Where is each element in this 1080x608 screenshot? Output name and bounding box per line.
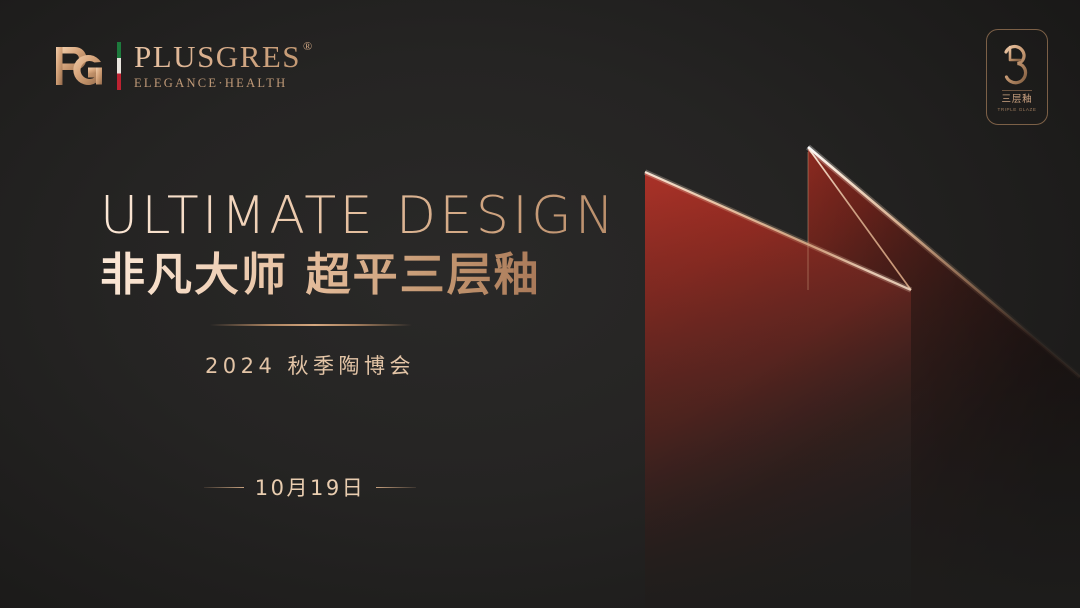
panel-left <box>645 172 911 608</box>
date-rule-right <box>376 487 416 488</box>
badge-label-en: TRIPLE GLAZE <box>997 108 1036 113</box>
brand-wordmark: PLUSGRES ® ELEGANCE·HEALTH <box>134 41 312 91</box>
pg-monogram-icon <box>52 40 108 92</box>
section-divider <box>210 324 412 326</box>
registered-trademark-icon: ® <box>303 39 312 54</box>
brand-tagline: ELEGANCE·HEALTH <box>134 76 312 91</box>
event-date-row: 10月19日 <box>0 472 620 502</box>
date-rule-left <box>204 487 244 488</box>
headline-english: ULTIMATE DESIGN <box>100 190 617 242</box>
badge-divider <box>1002 90 1032 91</box>
brand-name-row: PLUSGRES ® <box>134 41 312 72</box>
promo-banner: PLUSGRES ® ELEGANCE·HEALTH 三层釉 TRIPLE GL… <box>0 0 1080 608</box>
event-name: 2024 秋季陶博会 <box>0 350 620 380</box>
brand-logo: PLUSGRES ® ELEGANCE·HEALTH <box>52 36 312 96</box>
headline-chinese: 非凡大师 超平三层釉 <box>100 250 541 300</box>
panel-right <box>808 147 1080 608</box>
triple-glaze-badge: 三层釉 TRIPLE GLAZE <box>986 29 1048 125</box>
badge-label-cn: 三层釉 <box>1002 95 1033 105</box>
brand-name: PLUSGRES <box>134 41 301 72</box>
event-date: 10月19日 <box>255 472 365 502</box>
italy-flag-bar-icon <box>117 42 121 90</box>
numeral-three-icon <box>999 43 1035 85</box>
panel-inner-diagonal <box>809 149 911 290</box>
